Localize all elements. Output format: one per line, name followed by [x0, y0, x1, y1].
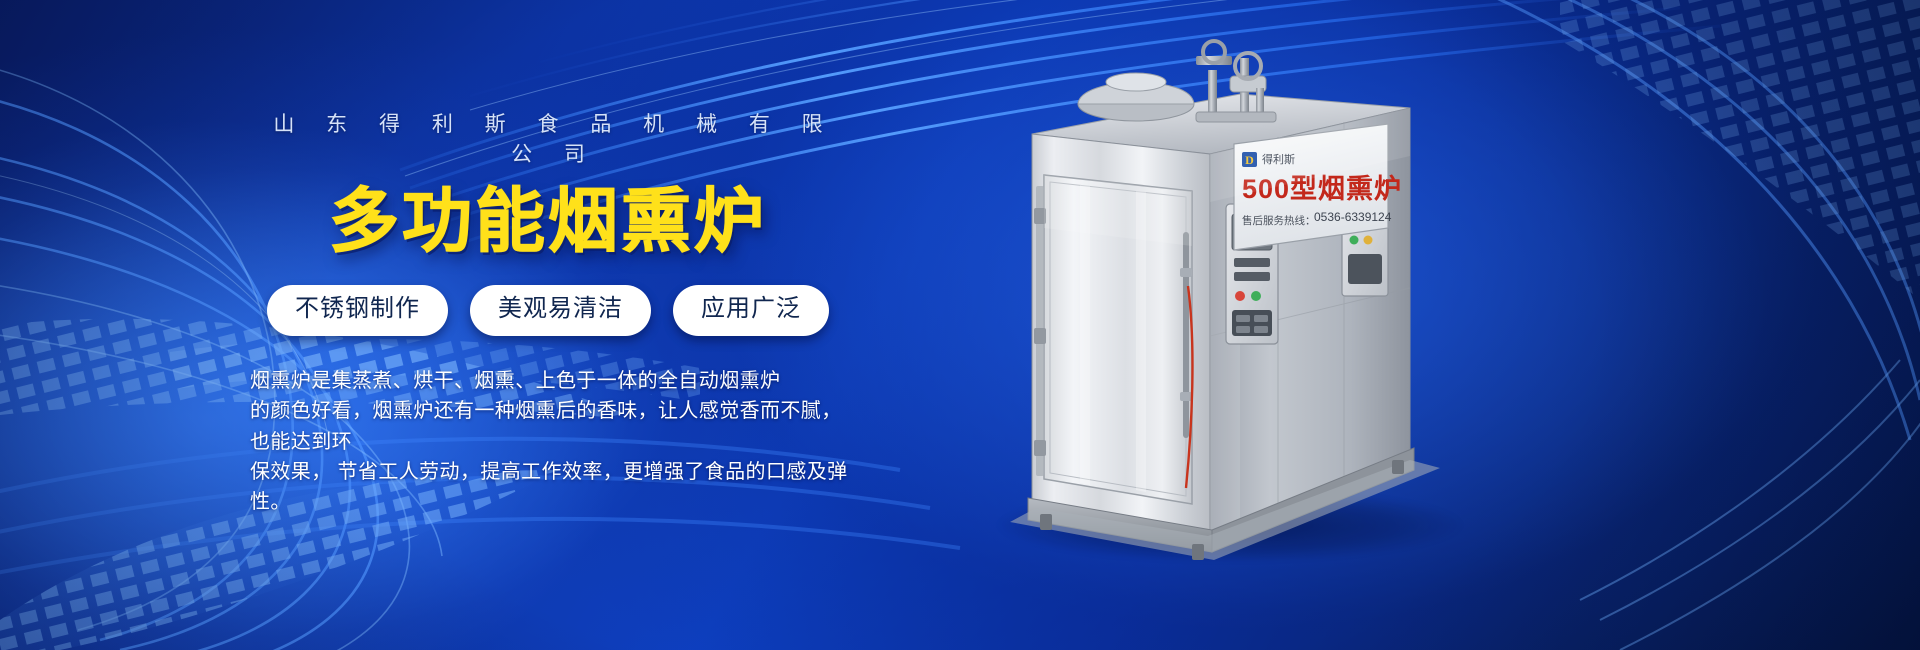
feature-pill-row: 不锈钢制作 美观易清洁 应用广泛: [248, 285, 848, 335]
page-title: 多功能烟熏炉: [248, 186, 848, 257]
smokehouse-oven-image: D 得利斯 500型烟熏炉 售后服务热线： 0536-6339124: [940, 36, 1500, 596]
description-line-1: 烟熏炉是集蒸煮、烘干、烟熏、上色于一体的全自动烟熏炉: [250, 366, 848, 396]
company-name: 山 东 得 利 斯 食 品 机 械 有 限 公 司: [248, 108, 848, 168]
service-hotline-phone: 0536-6339124: [1314, 210, 1392, 224]
description-line-3: 保效果， 节省工人劳动，提高工作效率，更增强了食品的口感及弹性。: [250, 457, 848, 518]
description-block: 烟熏炉是集蒸煮、烘干、烟熏、上色于一体的全自动烟熏炉 的颜色好看，烟熏炉还有一种…: [250, 366, 848, 518]
service-hotline-label: 售后服务热线：: [1242, 214, 1316, 227]
description-line-2: 的颜色好看，烟熏炉还有一种烟熏后的香味，让人感觉香而不腻，也能达到环: [250, 396, 848, 457]
promo-banner: 山 东 得 利 斯 食 品 机 械 有 限 公 司 多功能烟熏炉 不锈钢制作 美…: [0, 0, 1920, 650]
banner-content: 山 东 得 利 斯 食 品 机 械 有 限 公 司 多功能烟熏炉 不锈钢制作 美…: [248, 108, 848, 518]
feature-pill-stainless[interactable]: 不锈钢制作: [267, 285, 448, 335]
feature-pill-wide-use[interactable]: 应用广泛: [673, 285, 829, 335]
feature-pill-easy-clean[interactable]: 美观易清洁: [470, 285, 651, 335]
